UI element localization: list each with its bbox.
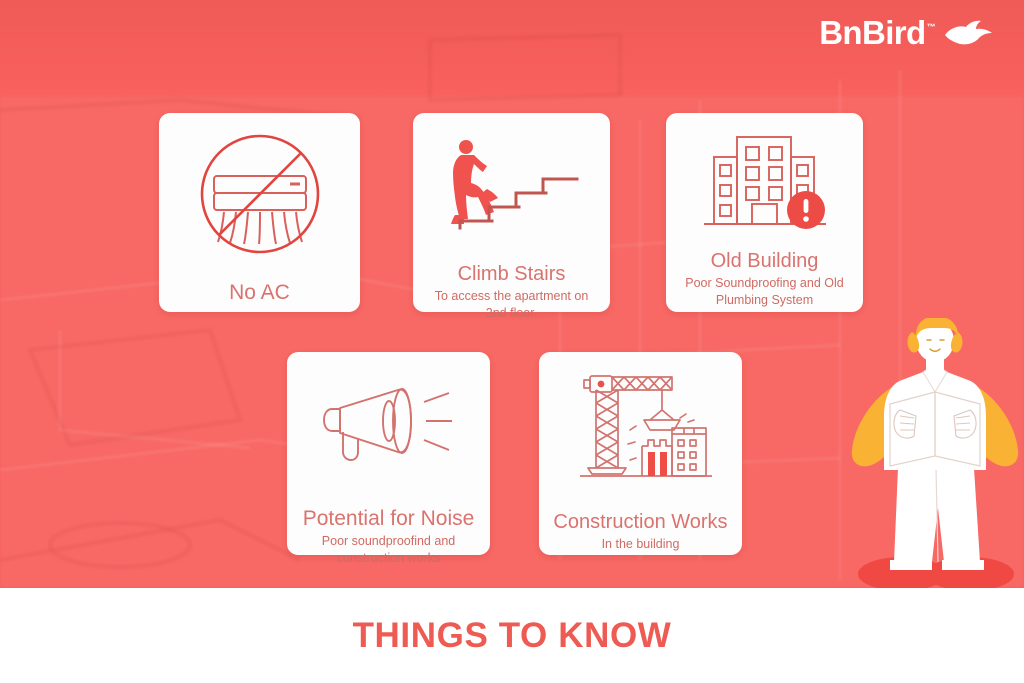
card-construction-works[interactable]: Construction Works In the building: [539, 352, 742, 555]
person-reading-book-illustration: [846, 318, 1024, 588]
card-climb-stairs-title: Climb Stairs: [458, 263, 566, 285]
bird-icon: [942, 18, 994, 48]
card-noise-subtitle: Poor soundproofind and construction work…: [287, 533, 490, 566]
card-construction-title: Construction Works: [553, 511, 727, 533]
card-old-building-title: Old Building: [711, 250, 819, 272]
person-climbing-stairs-icon: [437, 135, 587, 235]
card-noise-icon-wrap: [287, 352, 490, 465]
no-air-conditioner-icon: [190, 128, 330, 263]
card-old-building[interactable]: Old Building Poor Soundproofing and Old …: [666, 113, 863, 312]
card-climb-stairs[interactable]: Climb Stairs To access the apartment on …: [413, 113, 610, 312]
character-ground-shadow: [858, 557, 1014, 588]
card-old-building-subtitle: Poor Soundproofing and Old Plumbing Syst…: [666, 275, 863, 308]
brand-logo-text: BnBird™: [819, 16, 934, 49]
bottom-banner: THINGS TO KNOW: [0, 588, 1024, 683]
trademark-symbol: ™: [927, 22, 935, 32]
card-potential-for-noise[interactable]: Potential for Noise Poor soundproofind a…: [287, 352, 490, 555]
brand-name: BnBird: [819, 14, 925, 51]
card-climb-stairs-subtitle: To access the apartment on 2nd floor.: [413, 288, 610, 321]
card-climb-stairs-icon-wrap: [413, 113, 610, 235]
poster-canvas: BnBird™: [0, 0, 1024, 683]
card-construction-icon-wrap: [539, 352, 742, 483]
alert-badge-icon: [787, 191, 825, 229]
old-building-alert-icon: [690, 131, 840, 234]
card-noise-title: Potential for Noise: [303, 507, 475, 530]
brand-logo[interactable]: BnBird™: [819, 16, 994, 49]
banner-title: THINGS TO KNOW: [353, 616, 672, 656]
card-construction-subtitle: In the building: [592, 536, 690, 553]
megaphone-icon: [314, 380, 464, 465]
construction-crane-icon: [566, 368, 716, 483]
card-old-building-icon-wrap: [666, 113, 863, 234]
card-no-ac[interactable]: No AC: [159, 113, 360, 312]
card-no-ac-title: No AC: [229, 281, 290, 304]
card-no-ac-icon-wrap: [159, 113, 360, 263]
